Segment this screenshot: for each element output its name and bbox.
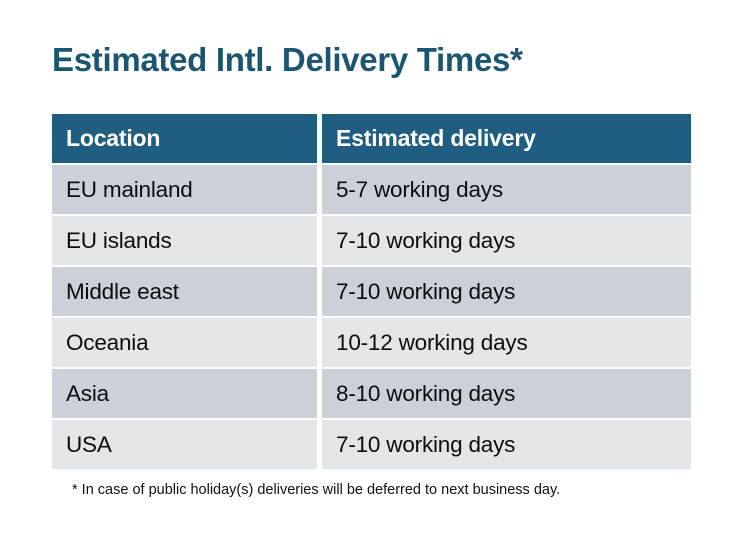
cell-location: USA xyxy=(52,420,317,469)
cell-location: Asia xyxy=(52,369,317,418)
table-header-row: Location Estimated delivery xyxy=(52,114,691,163)
cell-estimated-delivery: 7-10 working days xyxy=(322,420,691,469)
footnote-text: * In case of public holiday(s) deliverie… xyxy=(72,480,712,500)
cell-estimated-delivery: 8-10 working days xyxy=(322,369,691,418)
table-row: Oceania 10-12 working days xyxy=(52,318,691,367)
column-header-estimated-delivery: Estimated delivery xyxy=(322,114,691,163)
page-title: Estimated Intl. Delivery Times* xyxy=(52,38,702,82)
cell-estimated-delivery: 10-12 working days xyxy=(322,318,691,367)
cell-estimated-delivery: 7-10 working days xyxy=(322,267,691,316)
cell-location: Oceania xyxy=(52,318,317,367)
cell-location: EU mainland xyxy=(52,165,317,214)
column-header-location: Location xyxy=(52,114,317,163)
table-row: EU islands 7-10 working days xyxy=(52,216,691,265)
cell-location: EU islands xyxy=(52,216,317,265)
delivery-times-table: Location Estimated delivery EU mainland … xyxy=(52,114,691,469)
table-row: EU mainland 5-7 working days xyxy=(52,165,691,214)
delivery-times-page: Estimated Intl. Delivery Times* Location… xyxy=(0,0,745,536)
table-row: Asia 8-10 working days xyxy=(52,369,691,418)
table-row: USA 7-10 working days xyxy=(52,420,691,469)
table-row: Middle east 7-10 working days xyxy=(52,267,691,316)
cell-location: Middle east xyxy=(52,267,317,316)
cell-estimated-delivery: 5-7 working days xyxy=(322,165,691,214)
cell-estimated-delivery: 7-10 working days xyxy=(322,216,691,265)
